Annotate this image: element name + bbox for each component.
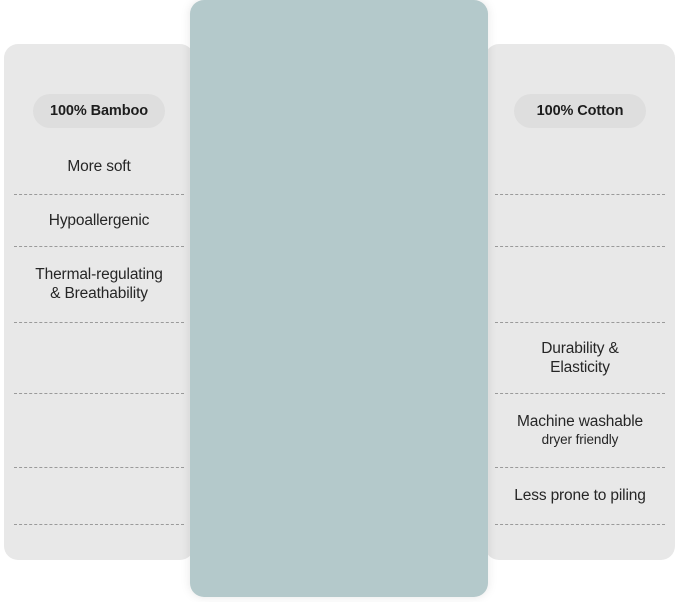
row-divider <box>495 524 665 525</box>
feature-sublabel: dryer friendly <box>542 432 619 449</box>
feature-row-empty <box>495 140 665 195</box>
feature-label: Hypoallergenic <box>49 212 149 231</box>
feature-row-empty <box>495 247 665 323</box>
feature-label: Durability &Elasticity <box>541 340 618 378</box>
feature-label: Machine washable <box>517 413 643 432</box>
feature-row: Durability &Elasticity <box>495 323 665 394</box>
feature-label: Less prone to piling <box>514 487 645 506</box>
column-panel-blend <box>190 0 488 597</box>
feature-row: Machine washable dryer friendly <box>495 394 665 468</box>
feature-row: Less prone to piling <box>495 468 665 525</box>
feature-row-empty <box>14 394 184 468</box>
column-badge-cotton: 100% Cotton <box>514 94 646 128</box>
feature-list-bamboo: More soft Hypoallergenic Thermal-regulat… <box>14 140 184 525</box>
column-badge-bamboo: 100% Bamboo <box>33 94 165 128</box>
feature-row-empty <box>14 323 184 394</box>
comparison-chart: 100% Bamboo Bamboo Cotton Blend 100% Cot… <box>0 0 679 602</box>
feature-row: Hypoallergenic <box>14 195 184 247</box>
feature-row: More soft <box>14 140 184 195</box>
feature-row: Thermal-regulating& Breathability <box>14 247 184 323</box>
feature-list-cotton: Durability &Elasticity Machine washable … <box>495 140 665 525</box>
feature-label: More soft <box>67 158 130 177</box>
row-divider <box>14 524 184 525</box>
feature-row-empty <box>14 468 184 525</box>
feature-row-empty <box>495 195 665 247</box>
feature-label: Thermal-regulating& Breathability <box>35 266 162 304</box>
